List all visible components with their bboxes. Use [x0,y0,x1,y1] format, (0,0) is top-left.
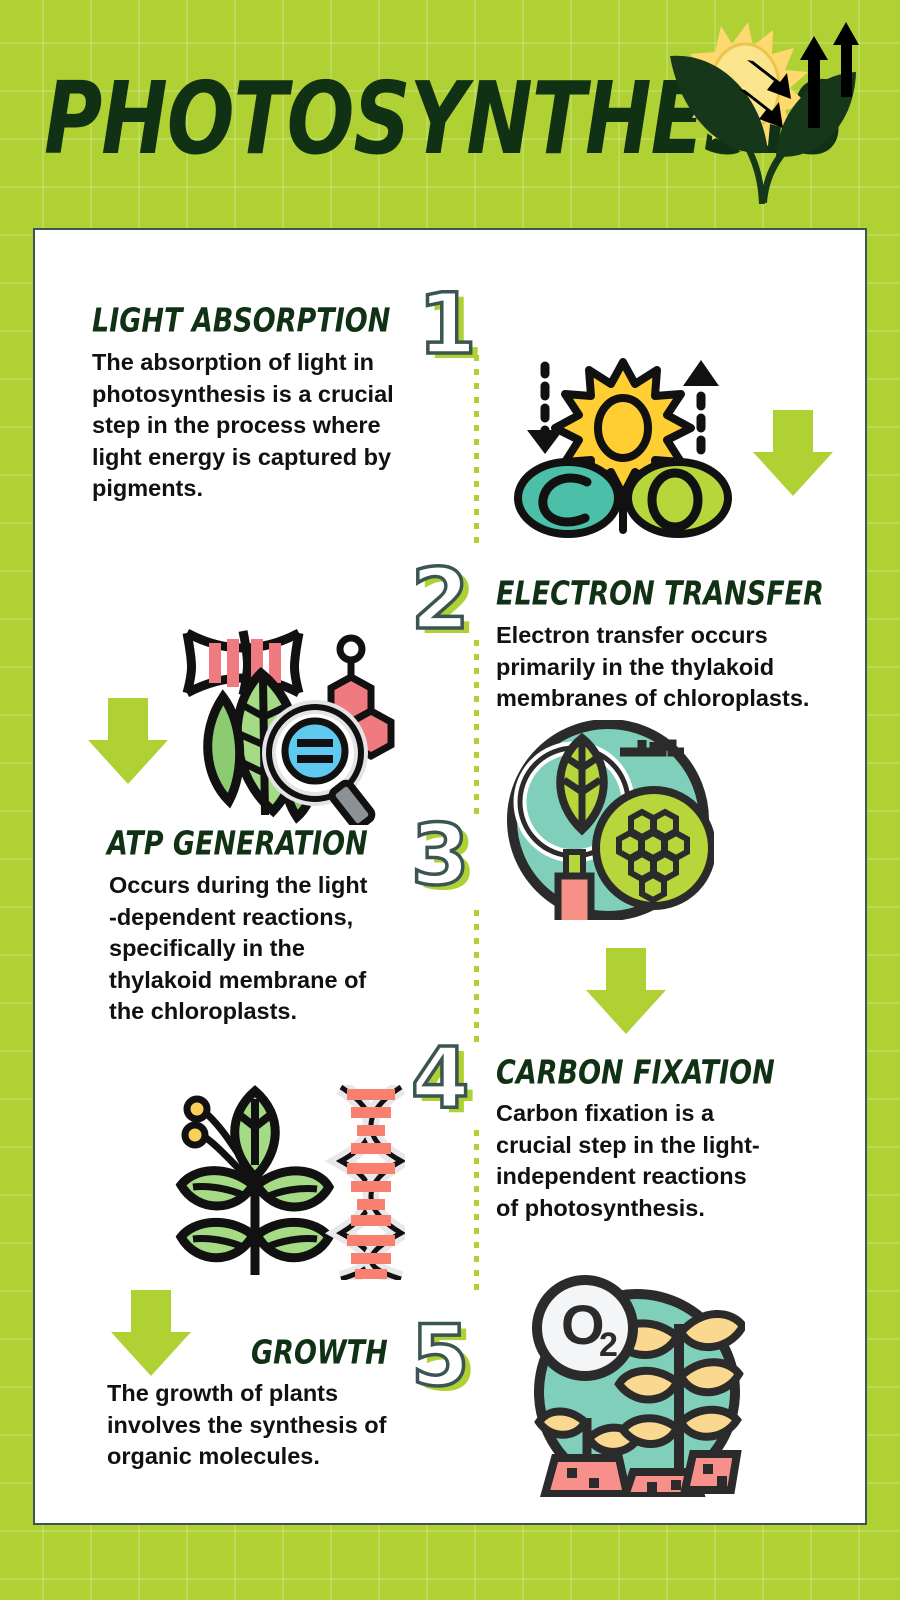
step-title-3: ATP GENERATION [107,825,368,863]
dna-icon [187,631,299,695]
dotted-line-4 [474,1130,479,1295]
step-body-4: Carbon fixation is a crucial step in the… [496,1098,856,1224]
step-number-4-outline: 4 [411,1036,469,1120]
step-body-2: Electron transfer occurs primarily in th… [496,620,856,715]
flow-arrow-3 [578,948,674,1036]
illustration-leaf-magnifier-honeycomb [502,720,714,920]
header: PHOTOSYNTHESIS [0,0,900,228]
flow-arrow-2 [80,698,176,786]
header-illustration [640,4,890,214]
oxygen-bubble-icon: O 2 [537,1280,633,1376]
illustration-dna-leaf-molecule [165,625,405,825]
step-body-3: Occurs during the light -dependent react… [92,870,454,1028]
dotted-line-1 [474,355,479,550]
flow-arrow-1 [745,410,841,498]
plant-icon [181,1091,329,1275]
svg-text:2: 2 [599,1326,618,1364]
dotted-line-2 [474,640,479,815]
leaf-c-icon [518,462,618,534]
illustration-oxygen-plants-soil: O 2 [525,1272,745,1497]
step-title-4: CARBON FIXATION [496,1054,775,1092]
step-number-2: 2 2 2 [411,557,481,649]
step-number-4: 4 4 4 [411,1036,481,1128]
dna-helix-icon [341,1087,401,1279]
step-title-2: ELECTRON TRANSFER [496,575,824,613]
step-body-5: The growth of plants involves the synthe… [107,1378,452,1473]
step-body-1: The absorption of light in photosynthesi… [92,347,437,505]
leaf-o-icon [628,462,728,534]
step-number-2-outline: 2 [411,557,469,641]
illustration-co2-sun-leaves [505,358,745,538]
flow-arrow-4 [103,1290,199,1378]
step-title-5: GROWTH [251,1334,388,1372]
illustration-plant-dna-helix [175,1085,405,1280]
dotted-line-3 [474,910,479,1050]
step-title-1: LIGHT ABSORPTION [92,302,390,340]
content-card: LIGHT ABSORPTION 1 1 1 The absorption of… [33,228,867,1525]
magnifier-icon [269,707,374,825]
